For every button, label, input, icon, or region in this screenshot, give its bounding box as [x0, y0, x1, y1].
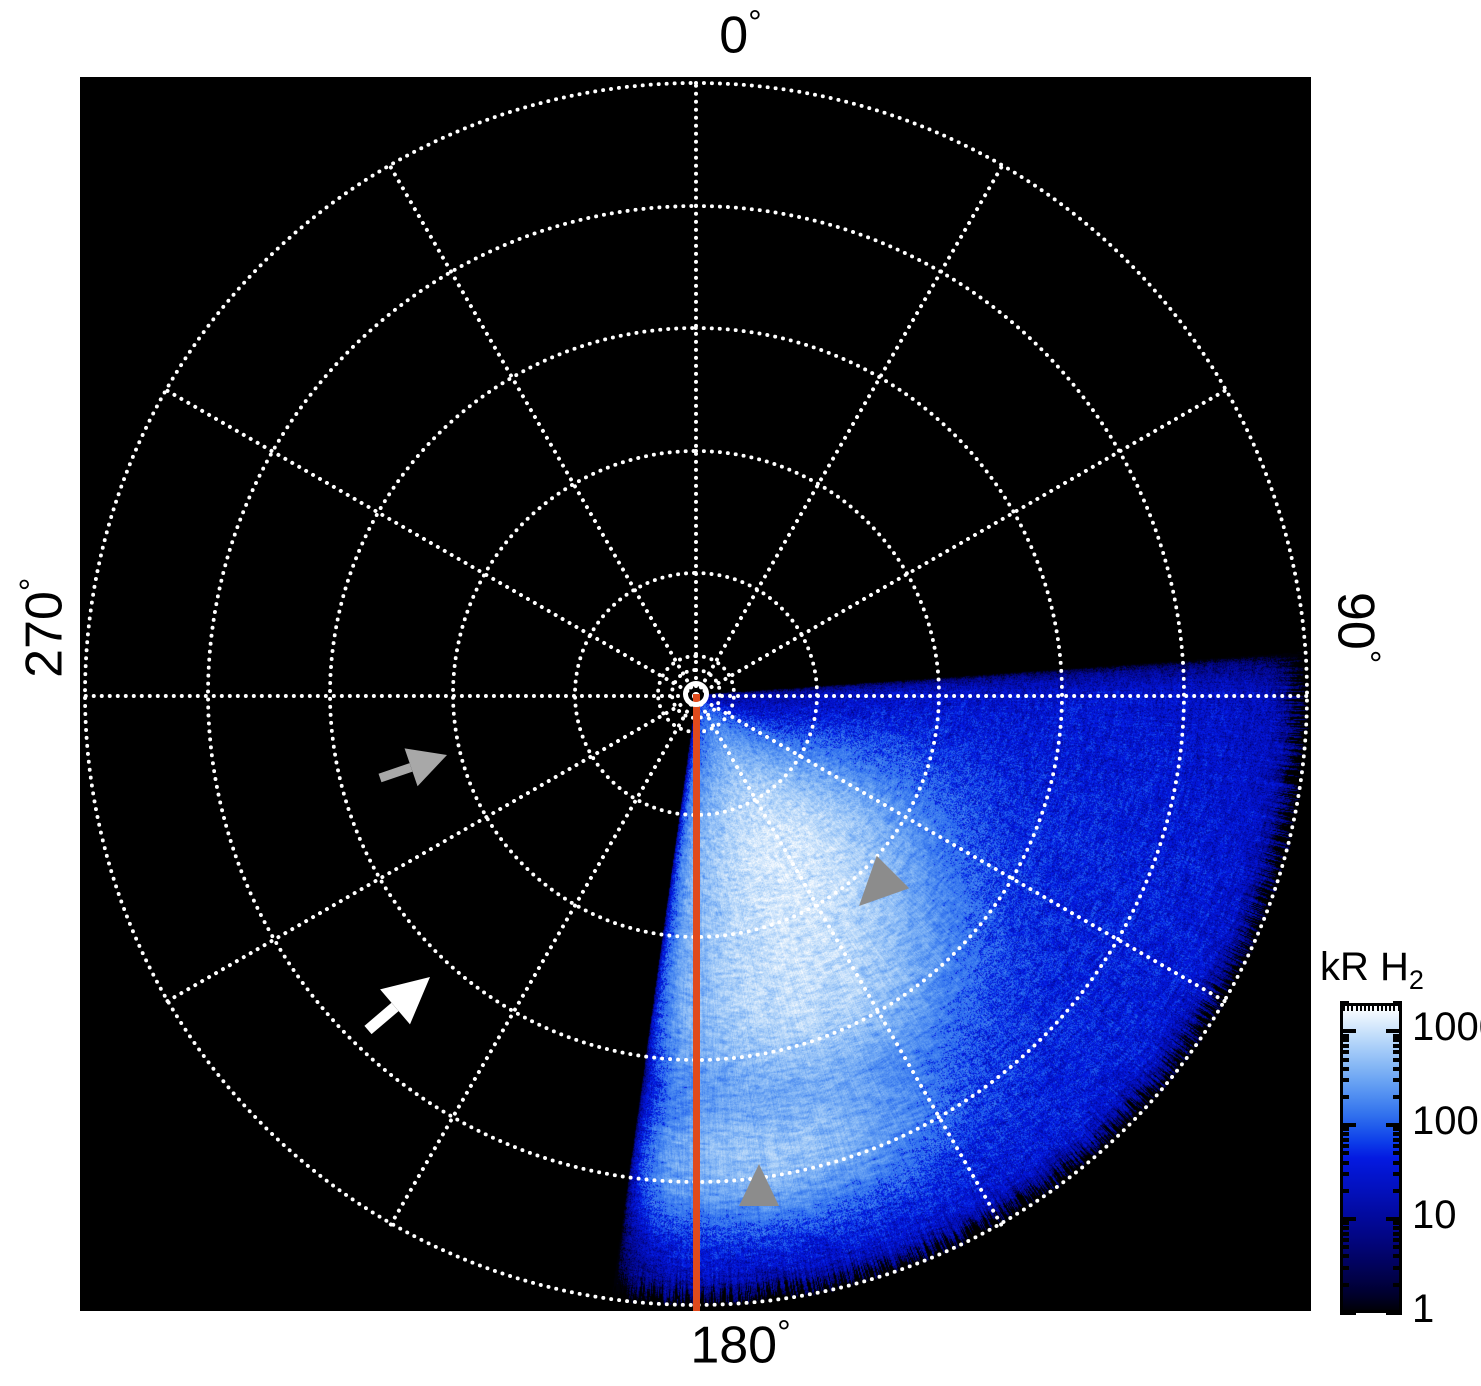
- white-arrow-lower-left: [368, 977, 430, 1030]
- colorbar-minor-tick: [1340, 1172, 1349, 1176]
- colorbar-minor-tick: [1340, 1283, 1349, 1287]
- colorbar-minor-tick: [1340, 1254, 1349, 1258]
- colorbar-minor-tick: [1393, 1151, 1402, 1155]
- colorbar-tick-label: 10: [1412, 1193, 1457, 1238]
- colorbar-tick-label: 100: [1412, 1099, 1479, 1144]
- colorbar-minor-tick: [1393, 1034, 1402, 1038]
- colorbar-major-tick: [1340, 1029, 1356, 1033]
- colorbar-minor-tick: [1340, 1038, 1349, 1042]
- colorbar-minor-tick: [1393, 1144, 1402, 1148]
- colorbar-minor-tick: [1393, 1221, 1402, 1225]
- axis-label-90deg: 90°: [1329, 533, 1384, 723]
- colorbar-minor-tick: [1377, 1003, 1379, 1011]
- colorbar-minor-tick: [1340, 1132, 1349, 1136]
- colorbar-minor-tick: [1360, 1003, 1362, 1011]
- colorbar-minor-tick: [1393, 1003, 1395, 1011]
- gray-arrow-upper-left: [380, 748, 447, 786]
- colorbar-minor-tick: [1340, 1144, 1349, 1148]
- colorbar-major-tick: [1340, 1123, 1356, 1127]
- axis-label-0deg: 0°: [0, 6, 1481, 61]
- colorbar-minor-tick: [1340, 1058, 1349, 1062]
- colorbar-minor-tick: [1343, 1003, 1345, 1011]
- colorbar-minor-tick: [1393, 1095, 1402, 1099]
- colorbar-minor-tick: [1381, 1003, 1383, 1011]
- colorbar-minor-tick: [1389, 1003, 1391, 1011]
- colorbar-major-tick: [1386, 1123, 1402, 1127]
- colorbar-minor-tick: [1372, 1003, 1374, 1011]
- colorbar-minor-tick: [1364, 1003, 1366, 1011]
- colorbar-minor-tick: [1340, 1189, 1349, 1193]
- colorbar-tick-label: 1000: [1412, 1005, 1481, 1050]
- colorbar-major-tick: [1340, 1217, 1356, 1221]
- colorbar-minor-tick: [1393, 1189, 1402, 1193]
- colorbar-minor-tick: [1393, 1050, 1402, 1054]
- colorbar-minor-tick: [1393, 1067, 1402, 1071]
- colorbar-minor-tick: [1340, 1226, 1349, 1230]
- colorbar-minor-tick: [1393, 1044, 1402, 1048]
- gray-triangle-lower: [739, 1164, 779, 1206]
- colorbar-minor-tick: [1340, 1138, 1349, 1142]
- colorbar-minor-tick: [1356, 1003, 1358, 1011]
- colorbar-minor-tick: [1340, 1095, 1349, 1099]
- colorbar-major-tick: [1386, 1311, 1402, 1315]
- colorbar-minor-tick: [1393, 1232, 1402, 1236]
- colorbar-minor-tick: [1385, 1003, 1387, 1011]
- colorbar-tick-label: 1: [1412, 1287, 1434, 1332]
- colorbar: kR H2 1000100101: [1316, 945, 1481, 1325]
- colorbar-minor-tick: [1351, 1003, 1353, 1011]
- colorbar-minor-tick: [1340, 1067, 1349, 1071]
- colorbar-minor-tick: [1393, 1266, 1402, 1270]
- colorbar-major-tick: [1340, 1311, 1356, 1315]
- colorbar-minor-tick: [1393, 1038, 1402, 1042]
- colorbar-minor-tick: [1368, 1003, 1370, 1011]
- colorbar-minor-tick: [1340, 1238, 1349, 1242]
- colorbar-minor-tick: [1340, 1245, 1349, 1249]
- colorbar-minor-tick: [1393, 1172, 1402, 1176]
- colorbar-minor-tick: [1393, 1138, 1402, 1142]
- colorbar-minor-tick: [1393, 1245, 1402, 1249]
- colorbar-major-tick: [1386, 1029, 1402, 1033]
- colorbar-minor-tick: [1393, 1226, 1402, 1230]
- colorbar-minor-tick: [1393, 1132, 1402, 1136]
- colorbar-minor-tick: [1393, 1283, 1402, 1287]
- colorbar-minor-tick: [1340, 1078, 1349, 1082]
- colorbar-title: kR H2: [1320, 945, 1424, 996]
- colorbar-minor-tick: [1340, 1034, 1349, 1038]
- colorbar-minor-tick: [1340, 1221, 1349, 1225]
- gray-arrowhead-inner: [843, 856, 909, 922]
- colorbar-minor-tick: [1340, 1151, 1349, 1155]
- colorbar-minor-tick: [1393, 1078, 1402, 1082]
- colorbar-minor-tick: [1340, 1044, 1349, 1048]
- colorbar-minor-tick: [1393, 1127, 1402, 1131]
- axis-label-270deg: 270°: [15, 533, 70, 723]
- colorbar-minor-tick: [1340, 1127, 1349, 1131]
- axis-label-180deg: 180°: [0, 1316, 1481, 1371]
- colorbar-minor-tick: [1340, 1232, 1349, 1236]
- colorbar-minor-tick: [1393, 1254, 1402, 1258]
- annotation-layer: [80, 77, 1311, 1311]
- colorbar-minor-tick: [1340, 1266, 1349, 1270]
- colorbar-major-tick: [1386, 1217, 1402, 1221]
- colorbar-minor-tick: [1340, 1050, 1349, 1054]
- colorbar-minor-tick: [1347, 1003, 1349, 1011]
- colorbar-minor-tick: [1393, 1161, 1402, 1165]
- colorbar-minor-tick: [1393, 1238, 1402, 1242]
- polar-plot-area: [80, 77, 1311, 1311]
- colorbar-minor-tick: [1393, 1058, 1402, 1062]
- colorbar-minor-tick: [1340, 1161, 1349, 1165]
- colorbar-minor-tick: [1398, 1003, 1400, 1011]
